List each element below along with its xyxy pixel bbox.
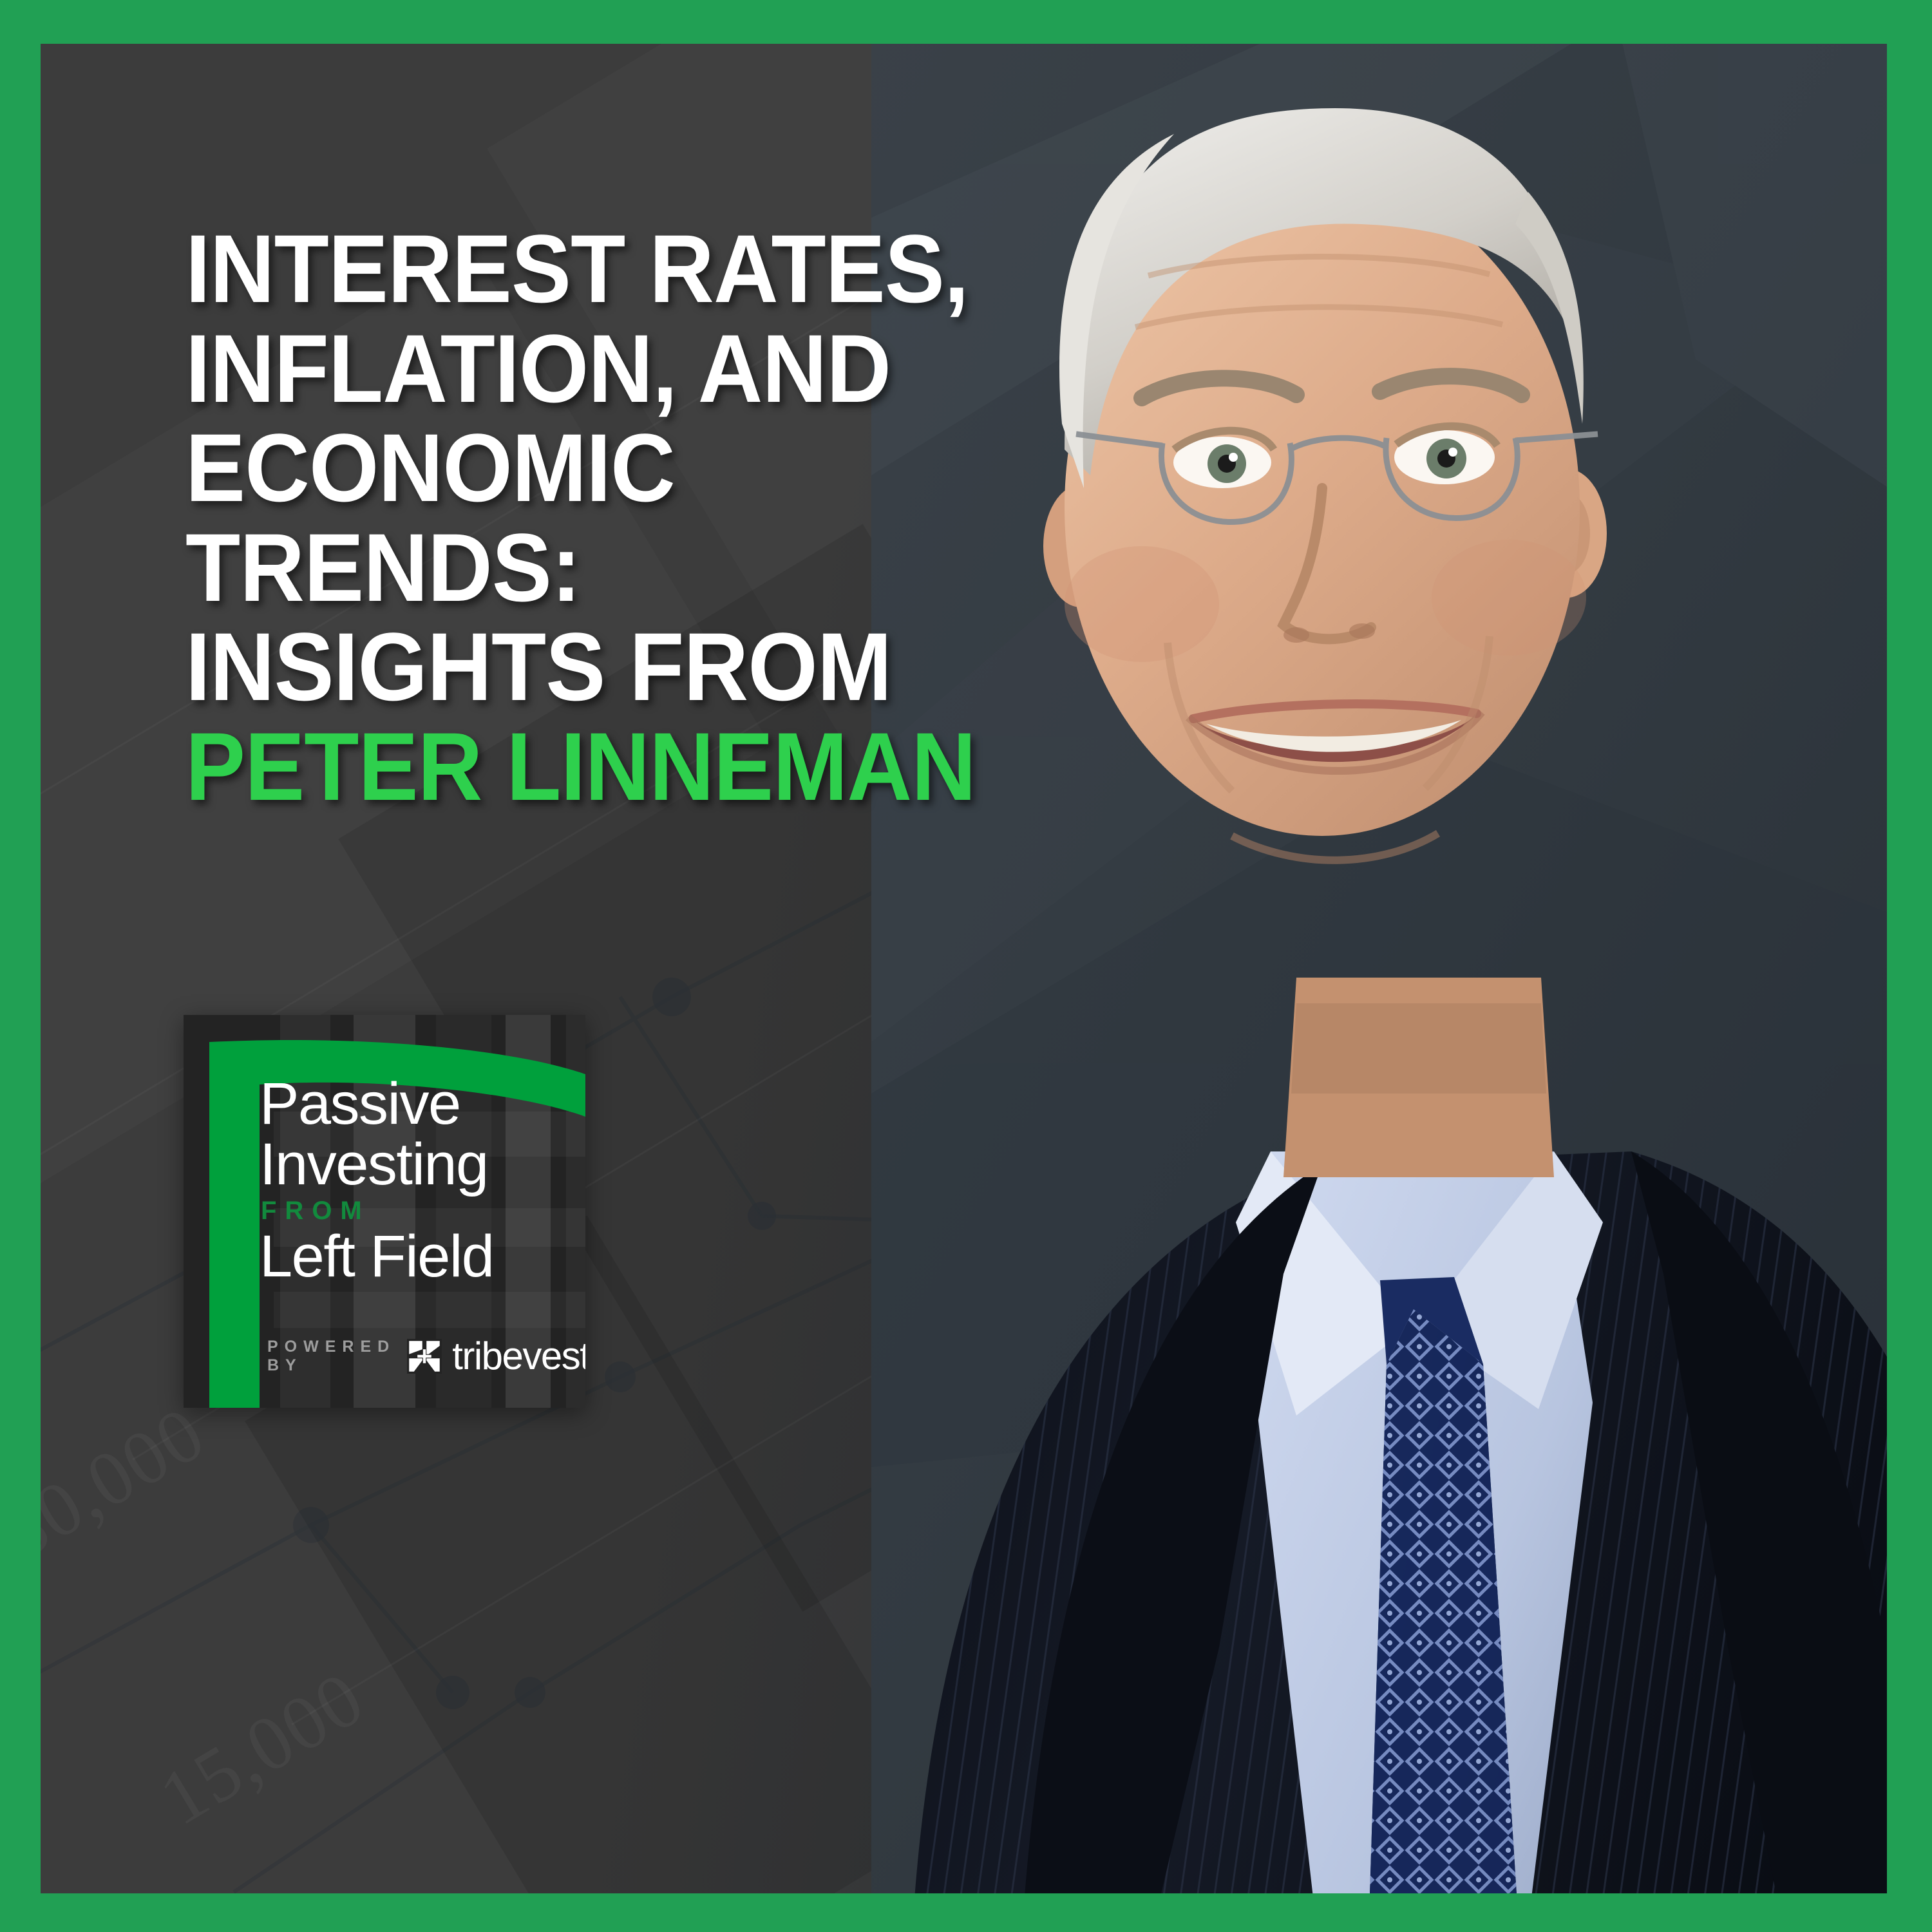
guest-name: PETER LINNEMAN — [185, 717, 1084, 817]
tribevest-wordmark: tribevest — [452, 1334, 585, 1378]
podcast-cover-art: 60,000 45,000 30,000 15,000 Jan Feb Jan — [0, 0, 1932, 1932]
logo-from-label: FROM — [261, 1197, 578, 1226]
title-line-3: ECONOMIC — [185, 418, 1084, 518]
episode-title: INTEREST RATES, INFLATION, AND ECONOMIC … — [185, 219, 1084, 816]
powered-by-label: POWERED BY — [267, 1338, 395, 1375]
logo-name-line-3: Left Field — [260, 1227, 578, 1287]
title-line-1: INTEREST RATES, — [185, 219, 1084, 319]
logo-name-line-1: Passive — [260, 1074, 578, 1135]
title-line-4: TRENDS: — [185, 518, 1084, 618]
title-line-5: INSIGHTS FROM — [185, 617, 1084, 717]
logo-sponsor-row: POWERED BY tribevest — [267, 1334, 585, 1378]
logo-name-line-2: Investing — [260, 1135, 578, 1195]
tribevest-pinwheel-icon — [407, 1339, 442, 1374]
podcast-logo-card: Passive Investing FROM Left Field POWERE… — [184, 1015, 585, 1408]
title-line-2: INFLATION, AND — [185, 319, 1084, 419]
cover-canvas: 60,000 45,000 30,000 15,000 Jan Feb Jan — [41, 44, 1887, 1893]
